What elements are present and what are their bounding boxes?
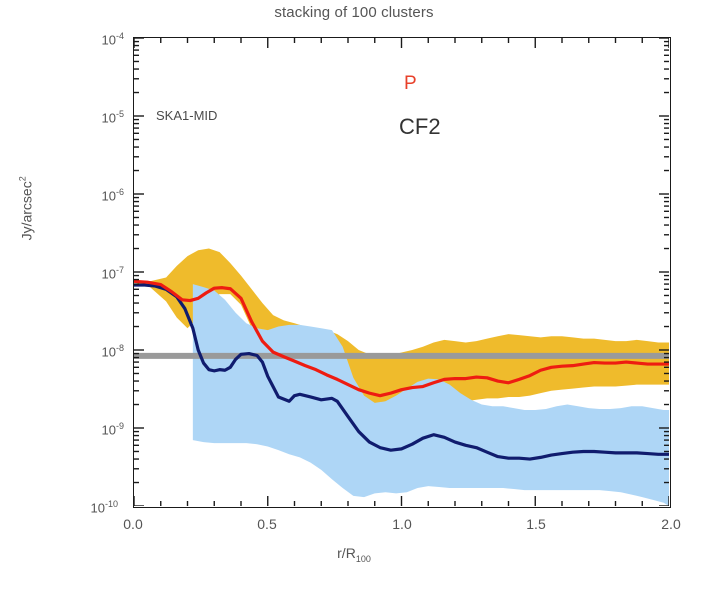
y-tick-label: 10-5 [66,109,124,125]
y-axis-label-exponent: 2 [18,176,28,181]
x-tick-label: 1.0 [377,516,427,532]
y-tick-exponent: -8 [116,343,124,353]
y-axis-label-text: Jy/arcsec [18,181,34,240]
x-axis-label: r/R100 [0,545,708,564]
x-axis-label-subscript: 100 [356,554,371,564]
chart-root: stacking of 100 clusters 10-4 10-5 10-6 … [0,0,708,589]
y-tick-label: 10-10 [60,499,118,515]
annotation-ska1-mid: SKA1-MID [156,108,217,123]
annotation-p-label: P [404,73,417,95]
y-tick-exponent: -9 [116,421,124,431]
y-tick-label: 10-6 [66,187,124,203]
x-tick-label: 0.0 [108,516,158,532]
y-tick-label: 10-4 [66,31,124,47]
x-tick-label: 1.5 [511,516,561,532]
y-tick-label: 10-8 [66,343,124,359]
y-tick-label: 10-9 [66,421,124,437]
x-axis-label-text: r/R [337,545,356,561]
y-tick-exponent: -6 [116,187,124,197]
y-tick-label: 10-7 [66,265,124,281]
plot-area: SKA1-MID P CF2 [133,37,671,508]
y-axis-label: Jy/arcsec2 [18,118,35,298]
x-tick-label: 0.5 [242,516,292,532]
x-tick-label: 2.0 [646,516,696,532]
annotation-cf2-label: CF2 [399,114,441,140]
y-tick-exponent: -10 [105,499,118,509]
y-tick-exponent: -7 [116,265,124,275]
y-tick-exponent: -5 [116,109,124,119]
y-tick-exponent: -4 [116,31,124,41]
